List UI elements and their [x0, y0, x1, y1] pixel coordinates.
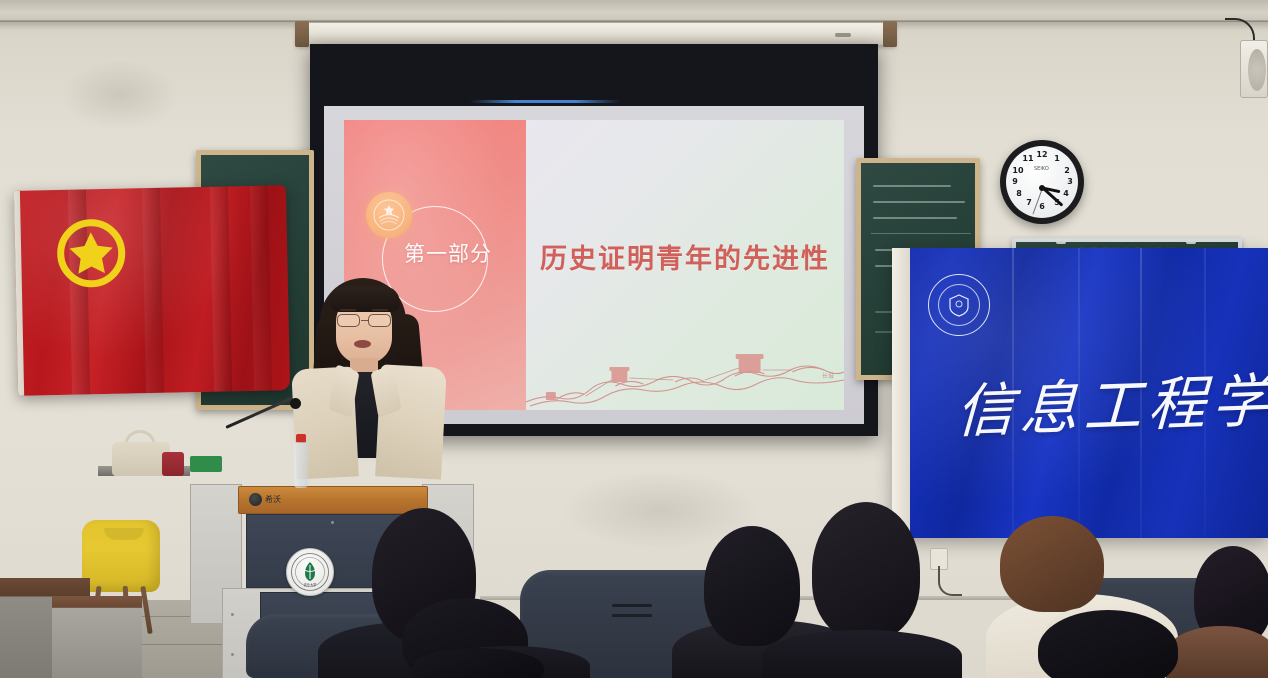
- university-seal-inner: [938, 284, 980, 326]
- presenter-glasses-icon: [336, 314, 392, 327]
- housing-end-left: [295, 21, 309, 47]
- slide-section-label: 第一部分: [382, 238, 514, 268]
- audience-shoulders: [762, 630, 962, 678]
- clock-face: 12 1 2 3 4 5 6 7 8 9 10 11 SEIKO: [1006, 146, 1078, 218]
- clock-brand: SEIKO: [1034, 166, 1049, 172]
- housing-knob: [835, 33, 851, 37]
- classroom-photo-scene: 12 1 2 3 4 5 6 7 8 9 10 11 SEIKO 教室借用信息公…: [0, 0, 1268, 678]
- communist-youth-league-badge-icon: [366, 192, 412, 238]
- audience-head: [812, 502, 920, 640]
- communist-youth-league-flag: [14, 185, 290, 396]
- slide-watermark: 长城: [822, 371, 834, 380]
- housing-end-right: [883, 21, 897, 47]
- banner-text: 信息工程学院: [955, 351, 1268, 449]
- audience-shoulders: [1166, 626, 1268, 678]
- projector-blue-stripe: [470, 100, 620, 103]
- wall-mounted-speaker: [1240, 40, 1268, 98]
- slide-right-panel: 历史证明青年的先进性: [526, 120, 844, 410]
- wall-smudge: [60, 60, 180, 130]
- microphone-icon: [290, 398, 301, 409]
- projector-screen-housing: [296, 22, 896, 46]
- university-seal-icon: [928, 274, 990, 336]
- presenter-mouth: [354, 340, 371, 348]
- speaker-grill-icon: [1248, 49, 1266, 91]
- slide-title: 历史证明青年的先进性: [540, 237, 830, 276]
- wall-clock: 12 1 2 3 4 5 6 7 8 9 10 11 SEIKO: [1000, 140, 1084, 224]
- audience-head-curly: [1000, 516, 1104, 612]
- ceiling-strip: [0, 0, 1268, 22]
- audience-head: [704, 526, 800, 646]
- clock-center-pin: [1039, 185, 1045, 191]
- great-wall-illustration-icon: [526, 340, 844, 410]
- audience: [0, 470, 1268, 678]
